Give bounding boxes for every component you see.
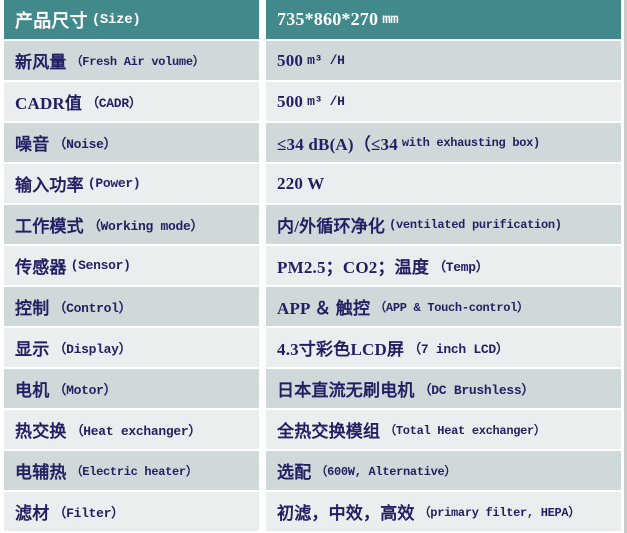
spec-value-cell: 全热交换模组（Total Heat exchanger） <box>266 410 621 449</box>
spec-label-cn: 显示 <box>15 335 49 360</box>
spec-value-cn: 735*860*270 <box>277 9 378 30</box>
table-row: 电辅热（Electric heater）选配（600W, Alternative… <box>0 451 624 492</box>
spec-value-cn: 初滤，中效，高效 <box>277 499 415 524</box>
spec-label-cell: 控制（Control） <box>4 287 259 326</box>
spec-value-en: with exhausting box) <box>402 136 540 150</box>
spec-value-en: （Temp） <box>433 256 488 275</box>
spec-value-en: （Total Heat exchanger） <box>384 421 545 438</box>
table-row: CADR值（CADR）500m³ /H <box>0 82 624 123</box>
product-specification-table: 产品尺寸(Size)735*860*270mm新风量（Fresh Air vol… <box>0 0 627 533</box>
spec-value-cell: 日本直流无刷电机（DC Brushless） <box>266 369 621 408</box>
spec-label-en: （Control） <box>53 297 131 316</box>
spec-value-cell: 选配（600W, Alternative） <box>266 451 621 490</box>
spec-value-cn: ≤34 dB(A)（≤34 <box>277 130 398 155</box>
spec-label-en: （Filter） <box>53 502 123 521</box>
spec-label-cn: 工作模式 <box>15 212 84 237</box>
table-row: 传感器(Sensor)PM2.5；CO2；温度（Temp） <box>0 246 624 287</box>
spec-value-en: （DC Brushless） <box>419 379 534 398</box>
spec-value-cn: 4.3寸彩色LCD屏 <box>277 335 404 360</box>
spec-value-cell: APP ＆ 触控（APP & Touch-control） <box>266 287 621 326</box>
spec-value-cn: 选配 <box>277 458 311 483</box>
spec-label-en: (Power) <box>88 176 141 191</box>
spec-label-en: (Size) <box>92 12 141 28</box>
spec-label-en: (Sensor) <box>71 258 131 273</box>
spec-label-cell: 工作模式（Working mode） <box>4 205 259 244</box>
spec-value-cn: 500 <box>277 92 303 112</box>
spec-value-cell: 初滤，中效，高效（primary filter, HEPA） <box>266 492 621 531</box>
spec-label-cell: 显示（Display） <box>4 328 259 367</box>
spec-label-en: （Motor） <box>53 379 116 398</box>
spec-value-en: （primary filter, HEPA） <box>419 503 580 520</box>
spec-label-cn: 输入功率 <box>15 171 84 196</box>
spec-value-en: mm <box>382 12 398 28</box>
table-row: 噪音（Noise）≤34 dB(A)（≤34with exhausting bo… <box>0 123 624 164</box>
spec-value-cn: 内/外循环净化 <box>277 212 385 237</box>
spec-value-en: m³ /H <box>307 94 345 109</box>
spec-label-cell: 滤材（Filter） <box>4 492 259 531</box>
spec-label-cn: 传感器 <box>15 253 67 278</box>
table-row: 输入功率(Power)220 W <box>0 164 624 205</box>
table-row: 显示（Display）4.3寸彩色LCD屏（7 inch LCD） <box>0 328 624 369</box>
spec-label-en: （Electric heater） <box>71 462 198 479</box>
spec-value-cell: 500m³ /H <box>266 41 621 80</box>
spec-value-cn: APP ＆ 触控 <box>277 294 370 319</box>
spec-label-cn: 电机 <box>15 376 49 401</box>
spec-label-cell: 噪音（Noise） <box>4 123 259 162</box>
table-row: 新风量（Fresh Air volume）500m³ /H <box>0 41 624 82</box>
spec-label-en: （CADR） <box>86 92 141 111</box>
spec-label-cell: 电机（Motor） <box>4 369 259 408</box>
spec-value-cell: ≤34 dB(A)（≤34with exhausting box) <box>266 123 621 162</box>
spec-label-cn: 滤材 <box>15 499 49 524</box>
table-header-row: 产品尺寸(Size)735*860*270mm <box>0 0 624 41</box>
spec-value-cell: 500m³ /H <box>266 82 621 121</box>
spec-value-cn: PM2.5；CO2；温度 <box>277 253 429 278</box>
spec-value-en: (ventilated purification) <box>389 218 562 232</box>
spec-value-cn: 日本直流无刷电机 <box>277 376 415 401</box>
spec-value-cn: 500 <box>277 51 303 71</box>
spec-label-cn: CADR值 <box>15 89 82 114</box>
spec-label-en: （Display） <box>53 338 131 357</box>
spec-value-cell: 内/外循环净化(ventilated purification) <box>266 205 621 244</box>
table-row: 控制（Control）APP ＆ 触控（APP & Touch-control） <box>0 287 624 328</box>
spec-value-cell: 220 W <box>266 164 621 203</box>
table-row: 电机（Motor）日本直流无刷电机（DC Brushless） <box>0 369 624 410</box>
spec-label-cell: CADR值（CADR） <box>4 82 259 121</box>
spec-label-cn: 电辅热 <box>15 458 67 483</box>
spec-label-cell: 新风量（Fresh Air volume） <box>4 41 259 80</box>
spec-value-cn: 全热交换模组 <box>277 417 380 442</box>
table-row: 热交换（Heat exchanger）全热交换模组（Total Heat exc… <box>0 410 624 451</box>
spec-label-cell: 传感器(Sensor) <box>4 246 259 285</box>
spec-value-cn: 220 W <box>277 174 324 194</box>
spec-label-cn: 噪音 <box>15 130 49 155</box>
spec-value-en: （APP & Touch-control） <box>374 298 529 315</box>
spec-label-cell: 电辅热（Electric heater） <box>4 451 259 490</box>
spec-label-cn: 新风量 <box>15 48 67 73</box>
spec-label-en: （Working mode） <box>88 215 203 234</box>
spec-label-en: （Noise） <box>53 133 116 152</box>
spec-label-cn: 控制 <box>15 294 49 319</box>
spec-value-en: m³ /H <box>307 53 345 68</box>
spec-value-en: （7 inch LCD） <box>408 338 508 357</box>
spec-label-cell: 产品尺寸(Size) <box>4 0 259 39</box>
spec-value-en: （600W, Alternative） <box>315 462 456 479</box>
table-row: 滤材（Filter）初滤，中效，高效（primary filter, HEPA） <box>0 492 624 533</box>
spec-label-en: （Heat exchanger） <box>71 420 201 439</box>
spec-value-cell: 735*860*270mm <box>266 0 621 39</box>
spec-label-cell: 热交换（Heat exchanger） <box>4 410 259 449</box>
spec-label-cn: 热交换 <box>15 417 67 442</box>
spec-value-cell: 4.3寸彩色LCD屏（7 inch LCD） <box>266 328 621 367</box>
spec-label-en: （Fresh Air volume） <box>71 52 205 69</box>
spec-value-cell: PM2.5；CO2；温度（Temp） <box>266 246 621 285</box>
spec-label-cn: 产品尺寸 <box>15 7 88 33</box>
table-row: 工作模式（Working mode）内/外循环净化(ventilated pur… <box>0 205 624 246</box>
spec-label-cell: 输入功率(Power) <box>4 164 259 203</box>
